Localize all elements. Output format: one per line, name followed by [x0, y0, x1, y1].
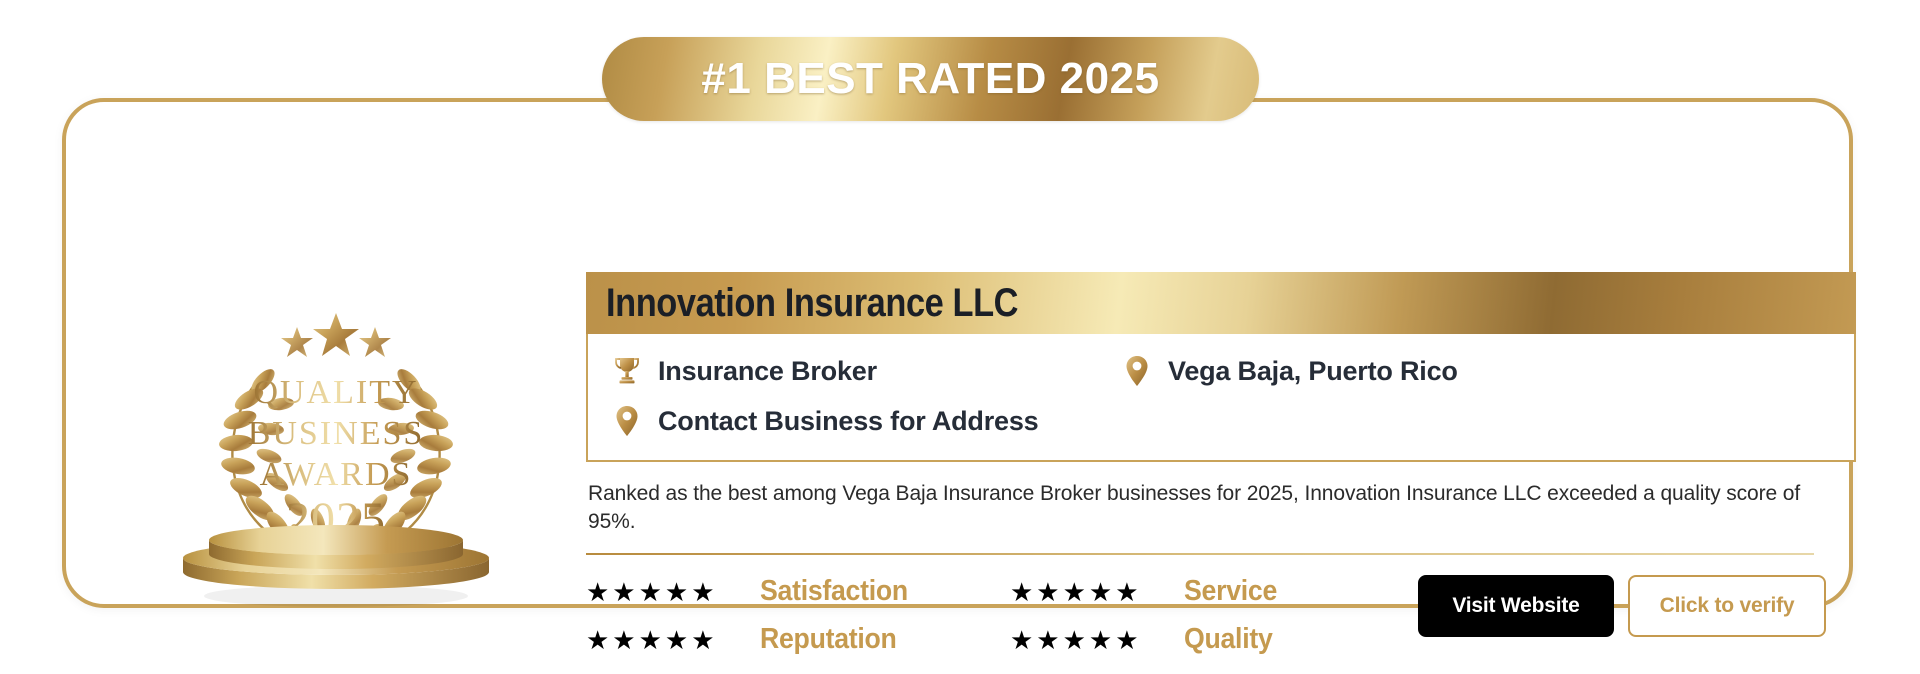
- business-category: Insurance Broker: [612, 353, 1122, 389]
- rating-label: Service: [1184, 575, 1277, 608]
- best-rated-ribbon: #1 BEST RATED 2025: [602, 37, 1259, 121]
- star-rating: ★★★★★: [1010, 627, 1160, 653]
- star-icon: [281, 313, 391, 357]
- ratings-group: ★★★★★ Satisfaction ★★★★★ Reputation ★★★★…: [586, 571, 1285, 661]
- section-divider: [586, 553, 1814, 555]
- rating-label: Satisfaction: [760, 575, 935, 608]
- action-buttons: Visit Website Click to verify: [1418, 571, 1826, 637]
- award-card: QUALITY BUSINESS AWARDS 2025 Innovation …: [62, 98, 1853, 608]
- ratings-column-left: ★★★★★ Satisfaction ★★★★★ Reputation: [586, 571, 950, 661]
- business-location-label: Vega Baja, Puerto Rico: [1168, 356, 1458, 387]
- rating-label: Quality: [1184, 623, 1273, 656]
- award-badge-widget: QUALITY BUSINESS AWARDS 2025 Innovation …: [0, 0, 1920, 674]
- emblem-line-1: QUALITY: [253, 374, 418, 411]
- rating-item: ★★★★★ Reputation: [586, 619, 950, 661]
- business-info-box: Insurance Broker: [586, 334, 1856, 462]
- best-rated-label: #1 BEST RATED 2025: [701, 54, 1159, 104]
- business-location: Vega Baja, Puerto Rico: [1122, 353, 1458, 389]
- visit-website-button[interactable]: Visit Website: [1418, 575, 1614, 637]
- emblem-line-3: AWARDS: [260, 456, 413, 493]
- info-row: Insurance Broker: [612, 346, 1854, 396]
- info-row: Contact Business for Address: [612, 396, 1854, 446]
- quality-business-awards-emblem: QUALITY BUSINESS AWARDS 2025: [161, 307, 511, 607]
- podium-icon: [183, 525, 489, 607]
- rating-label: Reputation: [760, 623, 935, 656]
- ratings-and-actions: ★★★★★ Satisfaction ★★★★★ Reputation ★★★★…: [586, 571, 1826, 661]
- award-description: Ranked as the best among Vega Baja Insur…: [588, 480, 1818, 537]
- map-pin-icon: [612, 403, 642, 439]
- click-to-verify-button[interactable]: Click to verify: [1628, 575, 1826, 637]
- business-details-panel: Innovation Insurance LLC: [586, 272, 1856, 661]
- rating-item: ★★★★★ Service: [1010, 571, 1285, 613]
- emblem-line-2: BUSINESS: [248, 415, 425, 452]
- business-category-label: Insurance Broker: [658, 356, 877, 387]
- rating-item: ★★★★★ Quality: [1010, 619, 1285, 661]
- star-rating: ★★★★★: [586, 627, 736, 653]
- star-rating: ★★★★★: [586, 579, 736, 605]
- business-address: Contact Business for Address: [612, 403, 1122, 439]
- star-rating: ★★★★★: [1010, 579, 1160, 605]
- ratings-column-right: ★★★★★ Service ★★★★★ Quality: [1010, 571, 1285, 661]
- business-address-label: Contact Business for Address: [658, 406, 1038, 437]
- business-name-bar: Innovation Insurance LLC: [586, 272, 1856, 334]
- rating-item: ★★★★★ Satisfaction: [586, 571, 950, 613]
- map-pin-icon: [1122, 353, 1152, 389]
- business-name: Innovation Insurance LLC: [606, 281, 1018, 326]
- trophy-icon: [612, 353, 642, 389]
